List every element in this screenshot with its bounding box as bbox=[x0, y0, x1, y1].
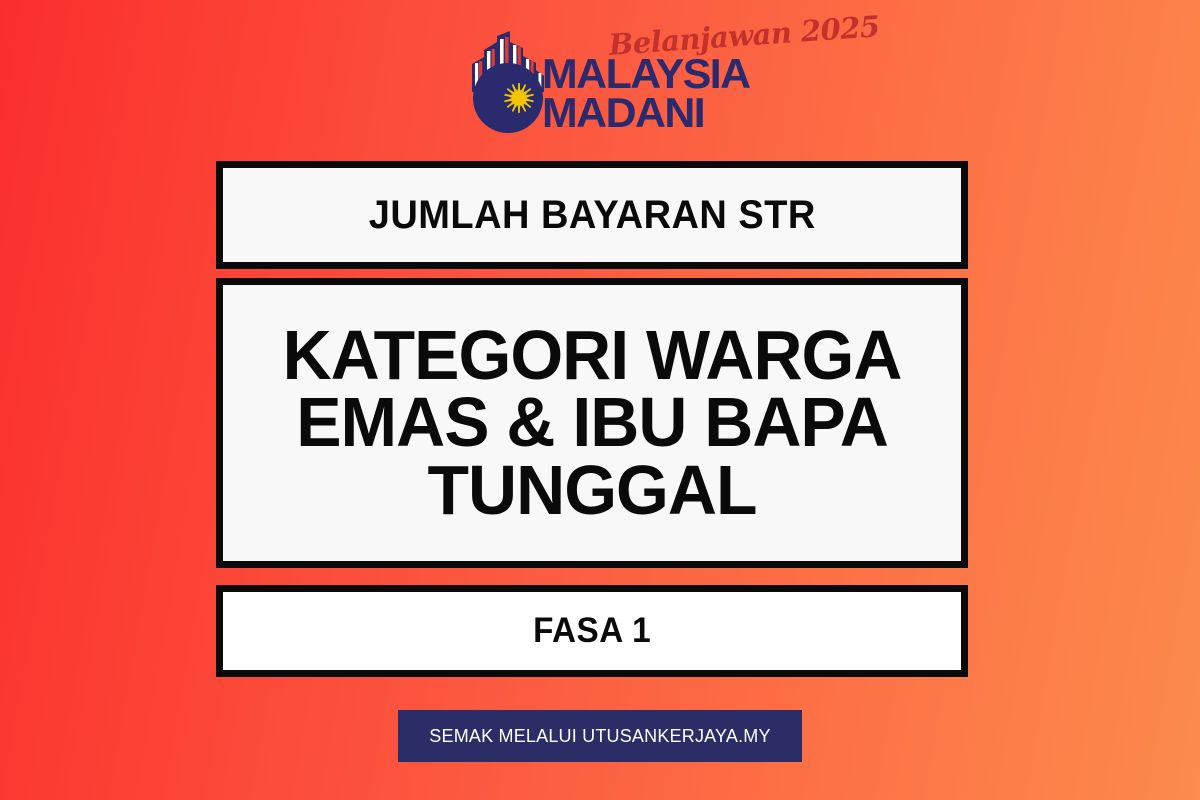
footer-source-bar[interactable]: SEMAK MELALUI UTUSANKERJAYA.MY bbox=[398, 710, 802, 762]
panel-title-text: JUMLAH BAYARAN STR bbox=[368, 193, 815, 238]
footer-source-text: SEMAK MELALUI UTUSANKERJAYA.MY bbox=[429, 726, 770, 747]
malaysia-madani-wordmark: Belanjawan 2025 MALAYSIA MADANI bbox=[542, 16, 742, 136]
headline-line-2: EMAS & IBU BAPA bbox=[283, 389, 902, 456]
headline-line-1: KATEGORI WARGA bbox=[283, 322, 902, 389]
panel-kategori-headline: KATEGORI WARGA EMAS & IBU BAPA TUNGGAL bbox=[216, 278, 968, 568]
panel-fasa: FASA 1 bbox=[216, 585, 968, 677]
poster-canvas: Belanjawan 2025 MALAYSIA MADANI JUMLAH B… bbox=[0, 0, 1200, 800]
panel-phase-text: FASA 1 bbox=[533, 611, 651, 651]
malaysia-madani-logo-mark bbox=[466, 30, 550, 136]
brand-line-madani: MADANI bbox=[542, 95, 704, 132]
navy-disc bbox=[473, 63, 543, 133]
malaysia-madani-logo: Belanjawan 2025 MALAYSIA MADANI bbox=[466, 16, 742, 136]
headline-line-3: TUNGGAL bbox=[283, 457, 902, 524]
panel-jumlah-bayaran-str: JUMLAH BAYARAN STR bbox=[216, 161, 968, 269]
panel-headline-text: KATEGORI WARGA EMAS & IBU BAPA TUNGGAL bbox=[267, 322, 917, 524]
brand-line-malaysia: MALAYSIA bbox=[542, 56, 750, 93]
